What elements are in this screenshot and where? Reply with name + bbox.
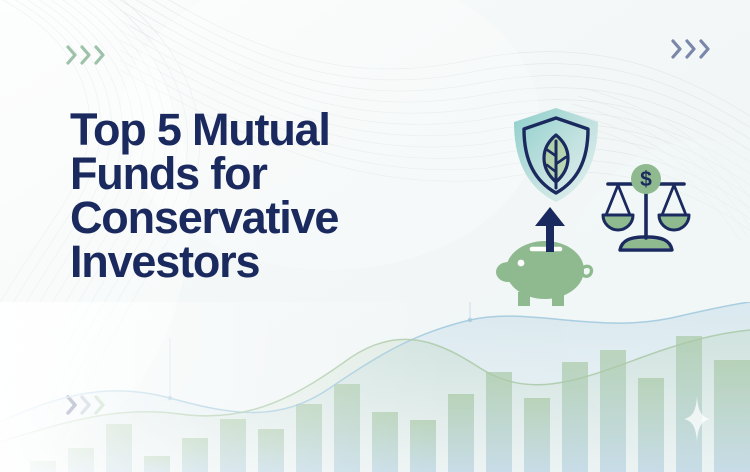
wave-drop-lines [170, 302, 470, 398]
bar [486, 372, 512, 472]
piggy-bank-icon [494, 206, 604, 321]
blue-wave-area [0, 302, 750, 472]
icon-cluster: $ [488, 96, 718, 326]
bar [258, 429, 284, 472]
chevron-right-icon [699, 38, 712, 60]
dollar-sign-label: $ [640, 168, 652, 191]
shield-leaf-icon [506, 104, 606, 211]
chevron-right-icon [685, 38, 698, 60]
chevron-right-icon [66, 44, 79, 66]
background-bar-chart [0, 302, 750, 472]
sparkle-icon [684, 396, 710, 442]
chevron-group-top-left [66, 44, 107, 66]
bar [638, 378, 664, 472]
green-wave-area [0, 330, 750, 472]
chart-fade-overlay [0, 302, 750, 472]
green-wave-line [0, 330, 750, 442]
bar [182, 438, 208, 472]
balance-scales-icon: $ [596, 158, 696, 263]
chevron-group-top-right [671, 38, 712, 60]
chevron-right-icon [671, 38, 684, 60]
bar [524, 398, 550, 472]
bar [600, 350, 626, 472]
chevron-right-icon [94, 44, 107, 66]
bar [562, 362, 588, 472]
bar [68, 448, 94, 472]
bar [106, 424, 132, 472]
bar-series [30, 336, 750, 472]
chevron-right-icon [66, 394, 79, 416]
bar [410, 420, 436, 472]
poster-canvas: Top 5 Mutual Funds for Conservative Inve… [0, 0, 750, 472]
bar [714, 360, 750, 472]
bar [372, 412, 398, 472]
chevron-right-icon [80, 394, 93, 416]
bar [220, 419, 246, 472]
chevron-right-icon [80, 44, 93, 66]
bar [296, 404, 322, 472]
bar [448, 394, 474, 472]
chevron-group-bottom-left [66, 394, 107, 416]
bar [334, 384, 360, 472]
chevron-right-icon [94, 394, 107, 416]
bar [144, 456, 170, 472]
page-title: Top 5 Mutual Funds for Conservative Inve… [70, 108, 450, 284]
wave-markers [168, 318, 472, 400]
bar [30, 461, 56, 472]
